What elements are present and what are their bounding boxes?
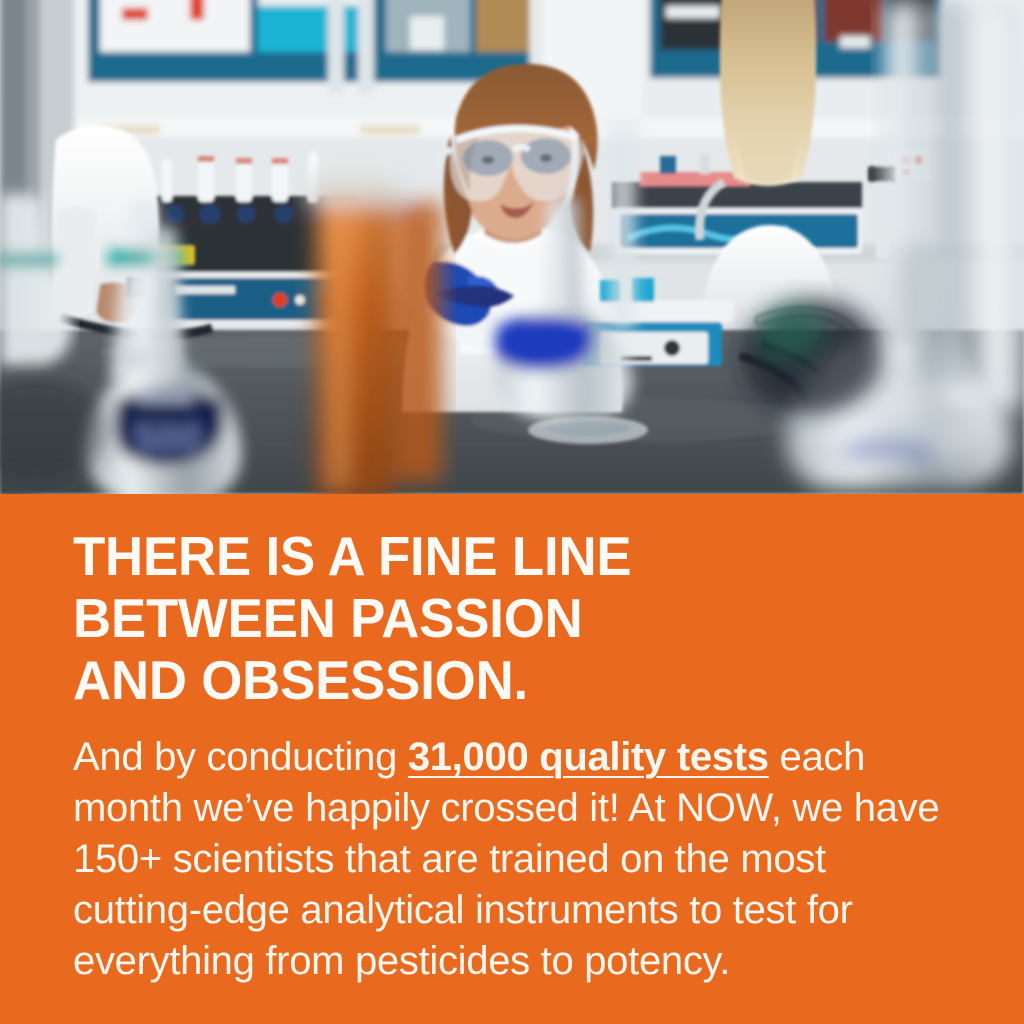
amber-graduated-cylinder bbox=[306, 180, 442, 494]
body-text-part-1: And by conducting bbox=[73, 735, 408, 779]
svg-text:500: 500 bbox=[135, 417, 202, 461]
social-media-promo-card: 500 bbox=[0, 0, 1024, 1024]
quality-tests-emphasis: 31,000 quality tests bbox=[408, 735, 769, 779]
photo-illustration: 500 bbox=[0, 0, 1024, 494]
page-title: THERE IS A FINE LINE BETWEEN PASSION AND… bbox=[73, 525, 973, 711]
body-paragraph: And by conducting 31,000 quality tests e… bbox=[73, 732, 953, 987]
headline-line-3: AND OBSESSION. bbox=[73, 649, 937, 711]
laboratory-scientists-photo: 500 bbox=[0, 0, 1024, 494]
headline-line-2: BETWEEN PASSION bbox=[73, 587, 937, 649]
orange-text-panel: THERE IS A FINE LINE BETWEEN PASSION AND… bbox=[0, 494, 1024, 1024]
headline-line-1: THERE IS A FINE LINE bbox=[73, 525, 937, 587]
